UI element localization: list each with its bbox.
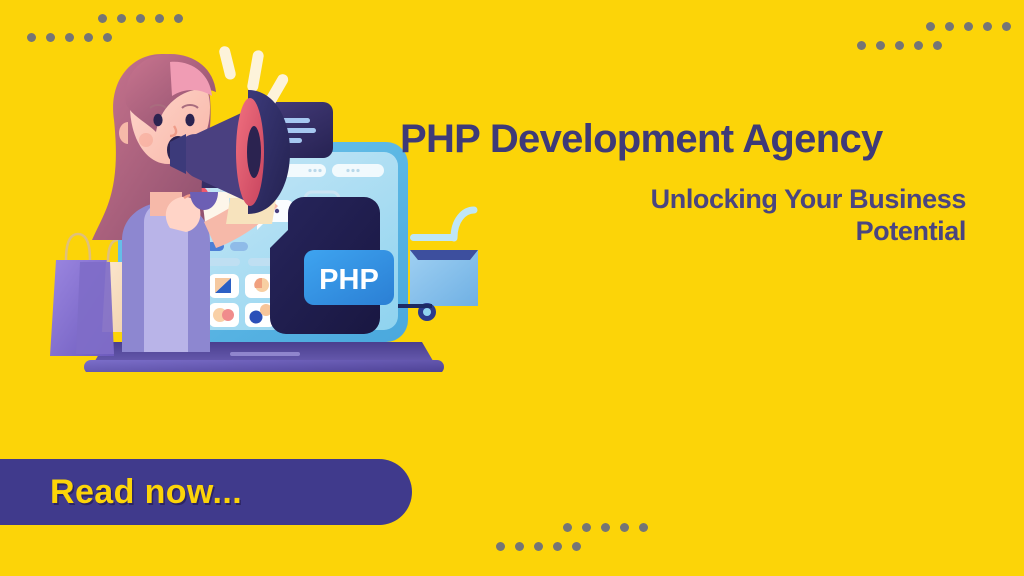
decor-dot	[639, 523, 648, 532]
decor-dot	[572, 542, 581, 551]
decor-dot	[601, 523, 610, 532]
page-title: PHP Development Agency	[400, 118, 966, 160]
decor-dot	[933, 41, 942, 50]
php-badge-label: PHP	[319, 264, 379, 296]
decor-dot	[964, 22, 973, 31]
subtitle-line-2: Potential	[400, 216, 966, 248]
read-now-button[interactable]: Read now...	[0, 459, 412, 525]
banner-canvas: PHP	[0, 0, 1024, 576]
decor-dot	[553, 542, 562, 551]
decor-dot	[1002, 22, 1011, 31]
dot-cluster-top-right-lower-row	[857, 41, 942, 50]
decor-dot	[563, 523, 572, 532]
decor-dot	[895, 41, 904, 50]
subtitle-line-1: Unlocking Your Business	[651, 184, 966, 214]
php-file-card: PHP	[270, 197, 394, 334]
read-now-button-label: Read now...	[50, 473, 242, 512]
decor-dot	[983, 22, 992, 31]
page-subtitle: Unlocking Your Business Potential	[400, 184, 966, 248]
decor-dot	[857, 41, 866, 50]
dot-cluster-bottom-upper-row	[563, 523, 648, 532]
decor-dot	[496, 542, 505, 551]
decor-dot	[876, 41, 885, 50]
dot-cluster-bottom-lower-row	[496, 542, 581, 551]
dot-cluster-top-right-upper-row	[926, 22, 1011, 31]
decor-dot	[914, 41, 923, 50]
decor-dot	[515, 542, 524, 551]
decor-dot	[582, 523, 591, 532]
decor-dot	[534, 542, 543, 551]
decor-dot	[926, 22, 935, 31]
decor-dot	[945, 22, 954, 31]
text-block: PHP Development Agency Unlocking Your Bu…	[400, 118, 966, 248]
decor-dot	[620, 523, 629, 532]
